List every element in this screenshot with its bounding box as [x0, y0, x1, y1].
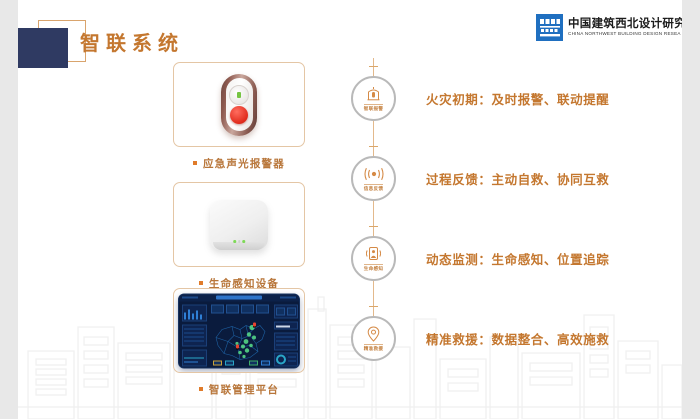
- bullet-square-icon: [193, 161, 197, 165]
- institute-logo: 中国建筑西北设计研究 CHINA NORTHWEST BUILDING DESI…: [536, 14, 682, 41]
- timeline-node-feedback[interactable]: 信息反馈 过程反馈：主动自救、协同互救: [351, 156, 396, 201]
- person-sensing-icon: [366, 245, 381, 262]
- timeline-tick: [369, 66, 378, 67]
- signal-broadcast-icon: [364, 165, 384, 182]
- timeline-node-circle: 信息反馈: [351, 156, 396, 201]
- device-caption: 应急声光报警器: [173, 156, 305, 171]
- device-image-card: [173, 62, 305, 147]
- location-pin-icon: [367, 325, 380, 342]
- device-management-platform: 智联管理平台: [173, 288, 305, 397]
- logo-name-en: CHINA NORTHWEST BUILDING DESIGN RESEA: [568, 32, 682, 37]
- node-divider: [364, 104, 383, 105]
- logo-name-cn: 中国建筑西北设计研究: [568, 18, 682, 30]
- timeline-node-badge: 精准救援: [364, 346, 384, 352]
- device-caption-text: 智联管理平台: [209, 384, 279, 396]
- city-skyline-watermark: [18, 289, 682, 419]
- timeline-tick: [369, 306, 378, 307]
- node-divider: [364, 184, 383, 185]
- device-caption-text: 应急声光报警器: [203, 158, 285, 170]
- alarm-lamp-icon: [367, 85, 380, 102]
- timeline-tick: [369, 226, 378, 227]
- timeline-node-text: 动态监测：生命感知、位置追踪: [426, 249, 609, 268]
- bullet-square-icon: [199, 281, 203, 285]
- timeline-node-circle: 生命感知: [351, 236, 396, 281]
- node-divider: [364, 344, 383, 345]
- device-image-card: [173, 288, 305, 373]
- timeline-node-badge: 智联报警: [364, 106, 384, 112]
- timeline-node-life-sensing[interactable]: 生命感知 动态监测：生命感知、位置追踪: [351, 236, 396, 281]
- timeline-tick: [369, 146, 378, 147]
- bullet-square-icon: [199, 387, 203, 391]
- header-navy-square: [18, 28, 68, 68]
- timeline-node-rescue[interactable]: 精准救援 精准救援：数据整合、高效施救: [351, 316, 396, 361]
- timeline-node-text: 过程反馈：主动自救、协同互救: [426, 169, 609, 188]
- timeline-node-text: 精准救援：数据整合、高效施救: [426, 329, 609, 348]
- timeline-node-alarm[interactable]: 智联报警 火灾初期：及时报警、联动提醒: [351, 76, 396, 121]
- node-divider: [364, 264, 383, 265]
- timeline-node-circle: 精准救援: [351, 316, 396, 361]
- device-life-sensor: 生命感知设备: [173, 182, 305, 291]
- page-title: 智联系统: [80, 27, 184, 56]
- timeline-node-badge: 生命感知: [364, 266, 384, 272]
- slide-canvas: 智联系统 中国建筑西北设计研究 CHINA NORTHWEST BUILDING…: [18, 0, 682, 419]
- device-caption: 智联管理平台: [173, 382, 305, 397]
- slide-edge-left: [0, 0, 18, 419]
- life-sensing-device-photo: [210, 200, 268, 250]
- slide-edge-right: [682, 0, 700, 419]
- institute-logo-icon: [536, 14, 563, 41]
- emergency-sound-light-alarm-photo: [221, 74, 257, 136]
- device-emergency-alarm: 应急声光报警器: [173, 62, 305, 171]
- timeline-node-circle: 智联报警: [351, 76, 396, 121]
- smart-link-management-platform-dashboard: [178, 293, 300, 368]
- timeline-node-text: 火灾初期：及时报警、联动提醒: [426, 89, 609, 108]
- device-image-card: [173, 182, 305, 267]
- timeline-node-badge: 信息反馈: [364, 186, 384, 192]
